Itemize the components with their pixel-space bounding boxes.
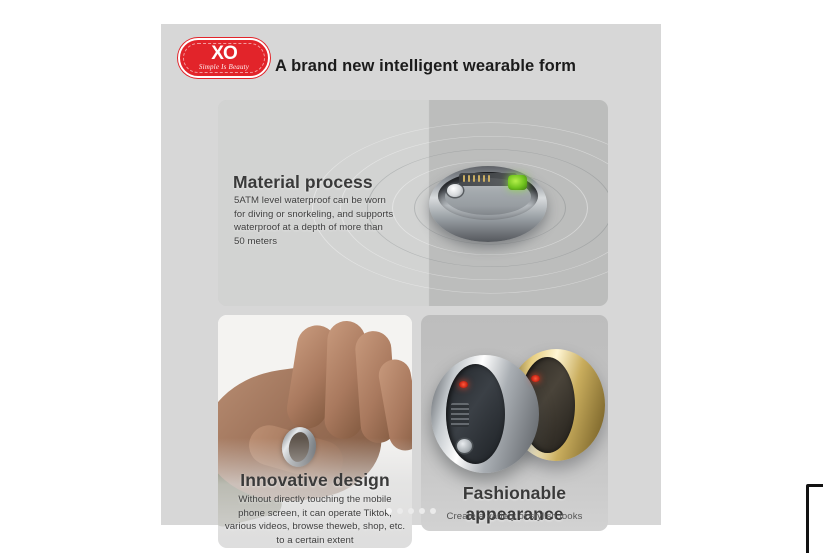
page-title: A brand new intelligent wearable form: [275, 57, 576, 76]
red-led-icon: [531, 375, 540, 382]
gold-contact-pad: [483, 175, 485, 182]
ring-sensor-button: [457, 439, 472, 453]
pagination-dot[interactable]: [408, 508, 414, 514]
panel-material-process[interactable]: Material process 5ATM level waterproof c…: [218, 100, 608, 306]
gold-contact-pad: [488, 175, 490, 182]
pagination-dot[interactable]: [419, 508, 425, 514]
logo-tagline: Simple Is Beauty: [180, 63, 268, 71]
panel-innovative-title: Innovative design: [218, 470, 412, 491]
screenshot-root: XO Simple Is Beauty A brand new intellig…: [0, 0, 823, 553]
corner-frame-overlay: [806, 484, 823, 553]
xo-brand-logo: XO Simple Is Beauty: [178, 38, 270, 78]
green-optical-sensor-icon: [508, 175, 527, 190]
red-led-icon: [459, 381, 468, 388]
panel-fashionable-appearance[interactable]: Fashionable appearance Create a variety …: [421, 315, 608, 531]
carousel-pagination[interactable]: [161, 508, 661, 514]
gold-contact-pad: [473, 175, 475, 182]
panel-material-title: Material process: [233, 172, 373, 193]
panel-material-body: 5ATM level waterproof can be worn for di…: [234, 194, 394, 248]
panel-innovative-body: Without directly touching the mobile pho…: [224, 493, 406, 547]
gold-contact-pad: [463, 175, 465, 182]
pagination-dot[interactable]: [386, 508, 392, 514]
ring-sensor-strip: [451, 403, 469, 427]
silver-smart-ring: [431, 355, 539, 473]
logo-wordmark: XO: [180, 44, 268, 64]
gold-contact-pad: [478, 175, 480, 182]
pagination-dot[interactable]: [397, 508, 403, 514]
product-slide: XO Simple Is Beauty A brand new intellig…: [161, 24, 661, 525]
gold-contact-pad: [468, 175, 470, 182]
ring-sensor-button: [447, 184, 463, 197]
slide-header: XO Simple Is Beauty A brand new intellig…: [161, 24, 661, 96]
smart-ring-product-image: [429, 166, 547, 242]
pagination-dot[interactable]: [430, 508, 436, 514]
